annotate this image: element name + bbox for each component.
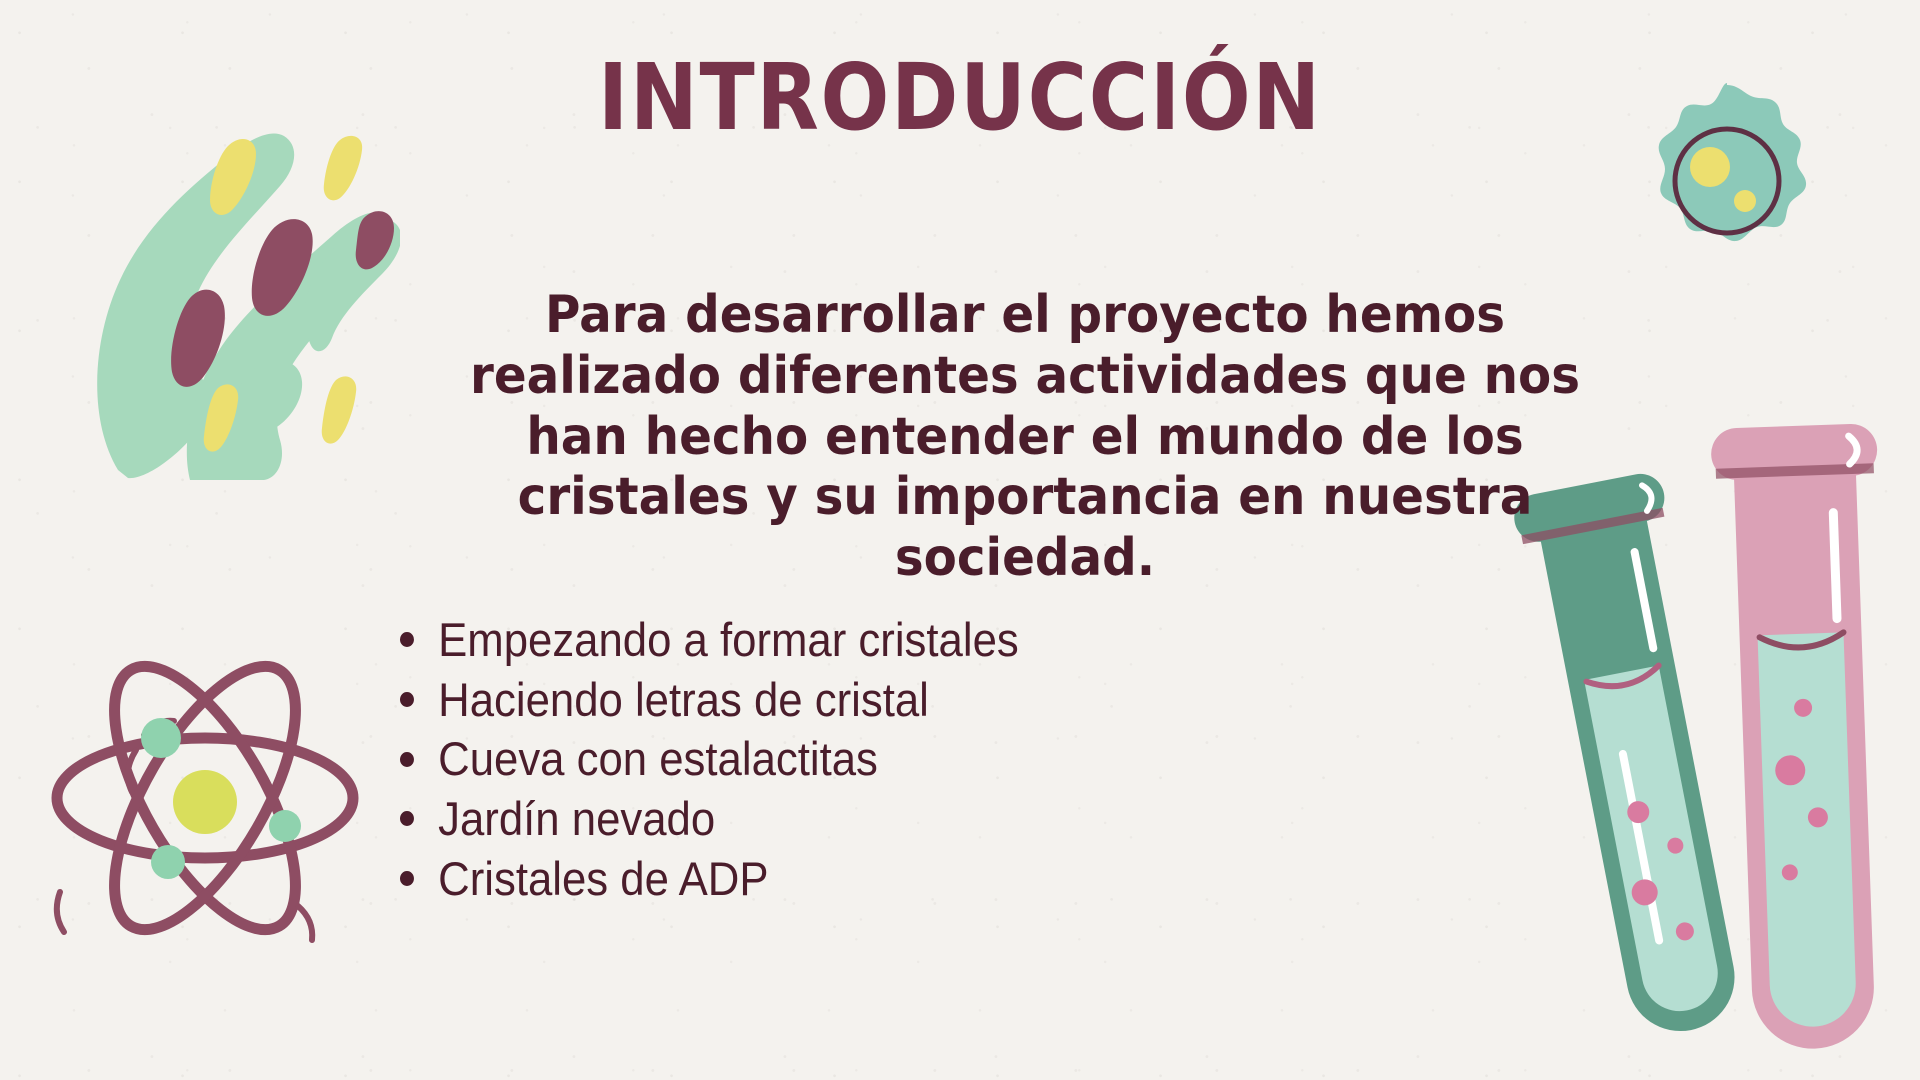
list-item-label: Cristales de ADP (438, 849, 768, 909)
atom-illustration (40, 630, 370, 960)
page-title: INTRODUCCIÓN (115, 50, 1805, 147)
list-item: Haciendo letras de cristal (400, 670, 1019, 730)
bullet-icon (400, 692, 414, 707)
slide-canvas: INTRODUCCIÓN Para desarrollar el proyect… (0, 0, 1920, 1080)
bullet-icon (400, 752, 414, 767)
intro-paragraph: Para desarrollar el proyecto hemos reali… (416, 285, 1634, 589)
activities-list: Empezando a formar cristales Haciendo le… (400, 610, 1065, 908)
bullet-icon (400, 871, 414, 886)
list-item-label: Haciendo letras de cristal (438, 670, 929, 730)
list-item-label: Jardín nevado (438, 789, 715, 849)
list-item: Empezando a formar cristales (400, 610, 1019, 670)
bullet-icon (400, 811, 414, 826)
list-item: Jardín nevado (400, 789, 1019, 849)
list-item-label: Empezando a formar cristales (438, 610, 1019, 670)
list-item: Cristales de ADP (400, 849, 1019, 909)
list-item: Cueva con estalactitas (400, 729, 1019, 789)
list-item-label: Cueva con estalactitas (438, 729, 878, 789)
bullet-icon (400, 632, 414, 647)
